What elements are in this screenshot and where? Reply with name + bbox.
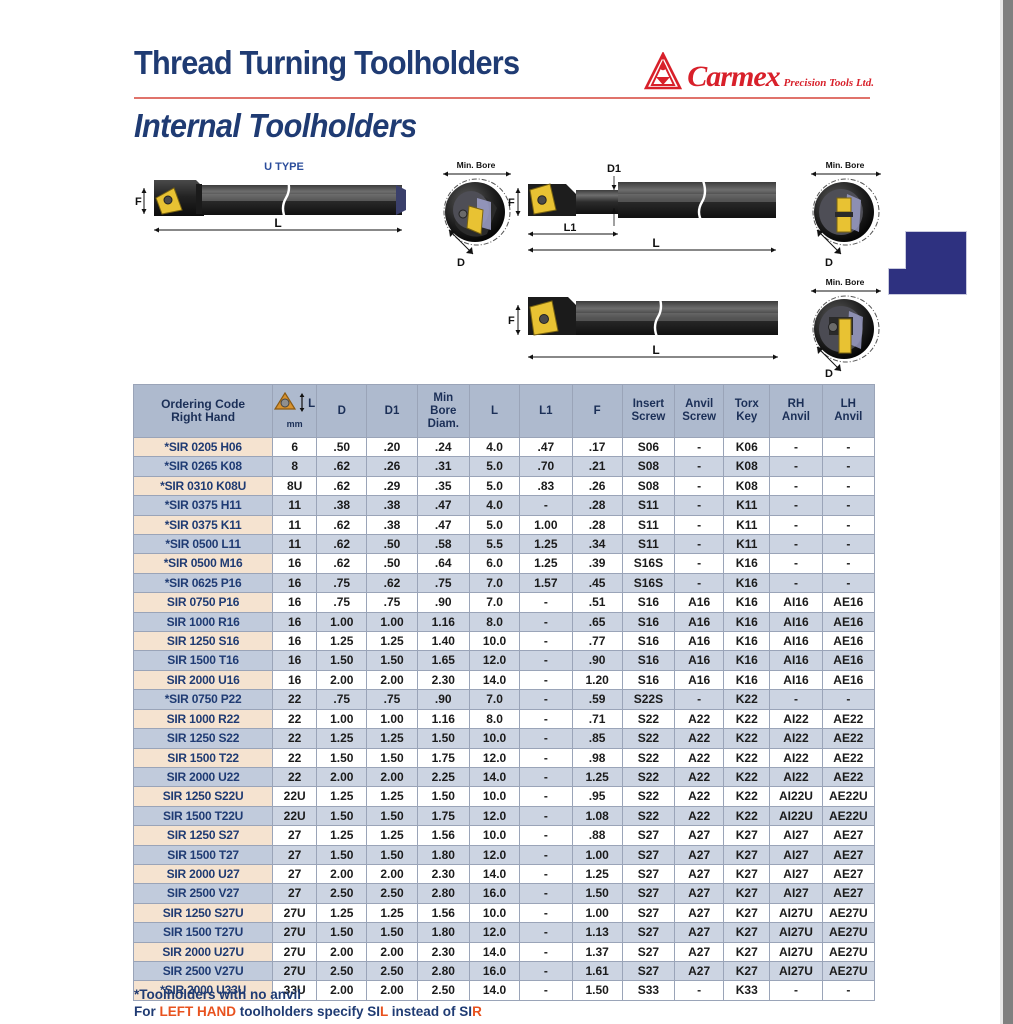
ordering-code-cell: SIR 1250 S22 (134, 729, 273, 748)
spec-cell: 5.0 (469, 457, 519, 476)
spec-cell: .45 (572, 573, 622, 592)
spec-cell: 1.25 (572, 864, 622, 883)
spec-cell: 7.0 (469, 573, 519, 592)
spec-cell: K22 (724, 690, 770, 709)
spec-cell: AI27 (770, 864, 822, 883)
svg-text:F: F (135, 196, 142, 208)
spec-cell: - (822, 515, 874, 534)
spec-cell: AI22U (770, 806, 822, 825)
spec-cell: .38 (317, 496, 367, 515)
spec-cell: .35 (417, 476, 469, 495)
spec-cell: - (520, 845, 572, 864)
spec-cell: .51 (572, 593, 622, 612)
spec-cell: 1.50 (317, 651, 367, 670)
spec-cell: 11 (273, 535, 317, 554)
spec-cell: 10.0 (469, 826, 519, 845)
spec-cell: 1.50 (572, 884, 622, 903)
spec-cell: K27 (724, 864, 770, 883)
spec-cell: 2.30 (417, 670, 469, 689)
spec-cell: 1.80 (417, 923, 469, 942)
spec-cell: S16S (622, 554, 674, 573)
spec-cell: K22 (724, 787, 770, 806)
spec-cell: K22 (724, 748, 770, 767)
spec-cell: 22U (273, 787, 317, 806)
spec-cell: 27 (273, 845, 317, 864)
spec-cell: K22 (724, 729, 770, 748)
table-row: SIR 2000 U27U27U2.002.002.3014.0-1.37S27… (134, 942, 875, 961)
spec-cell: 2.00 (317, 767, 367, 786)
spec-cell: 2.00 (367, 864, 417, 883)
table-row: *SIR 0500 M1616.62.50.646.01.25.39S16S-K… (134, 554, 875, 573)
svg-text:D: D (825, 368, 833, 378)
spec-cell: 1.40 (417, 632, 469, 651)
spec-cell: - (675, 457, 724, 476)
svg-text:D1: D1 (607, 163, 621, 175)
spec-cell: 14.0 (469, 864, 519, 883)
table-row: SIR 2500 V27U27U2.502.502.8016.0-1.61S27… (134, 961, 875, 980)
spec-cell: 2.80 (417, 884, 469, 903)
spec-cell: - (520, 496, 572, 515)
spec-cell: - (520, 632, 572, 651)
spec-cell: A16 (675, 593, 724, 612)
spec-cell: 1.50 (417, 729, 469, 748)
spec-cell: AE22U (822, 806, 874, 825)
spec-cell: 27 (273, 864, 317, 883)
spec-cell: AE27 (822, 826, 874, 845)
spec-cell: .90 (417, 690, 469, 709)
svg-text:L: L (274, 216, 281, 230)
spec-cell: AE22 (822, 729, 874, 748)
spec-cell: 27U (273, 903, 317, 922)
spec-cell: K16 (724, 632, 770, 651)
col-header-d1: D1 (367, 385, 417, 438)
ordering-code-cell: *SIR 0265 K08 (134, 457, 273, 476)
spec-cell: 12.0 (469, 806, 519, 825)
spec-cell: 22 (273, 729, 317, 748)
spec-cell: K16 (724, 554, 770, 573)
spec-cell: S22 (622, 767, 674, 786)
spec-cell: 4.0 (469, 496, 519, 515)
spec-cell: K27 (724, 923, 770, 942)
spec-cell: AE22U (822, 787, 874, 806)
spec-cell: S16 (622, 632, 674, 651)
page-subtitle: Internal Toolholders (134, 109, 822, 142)
spec-cell: 7.0 (469, 593, 519, 612)
insert-unit-label: mm (287, 418, 303, 431)
spec-cell: S27 (622, 884, 674, 903)
u-type-side-view-diagram: U TYPE F L (134, 158, 424, 268)
spec-cell: .24 (417, 438, 469, 457)
ordering-code-cell: SIR 2500 V27U (134, 961, 273, 980)
spec-cell: 2.00 (317, 864, 367, 883)
ordering-code-cell: SIR 1000 R22 (134, 709, 273, 728)
spec-cell: A16 (675, 670, 724, 689)
spec-cell: - (520, 787, 572, 806)
ordering-code-cell: SIR 2500 V27 (134, 884, 273, 903)
spec-cell: 10.0 (469, 787, 519, 806)
brand-tagline: Precision Tools Ltd. (784, 78, 874, 89)
spec-cell: S22 (622, 806, 674, 825)
spec-cell: 22 (273, 690, 317, 709)
spec-cell: 1.25 (317, 826, 367, 845)
spec-cell: AE27 (822, 884, 874, 903)
col-header-insert-size: L mm (273, 385, 317, 438)
spec-cell: 27 (273, 884, 317, 903)
ordering-code-cell: SIR 1500 T16 (134, 651, 273, 670)
spec-cell: S11 (622, 496, 674, 515)
spec-cell: 1.16 (417, 709, 469, 728)
spec-cell: 2.30 (417, 864, 469, 883)
spec-cell: 1.00 (367, 709, 417, 728)
spec-cell: 1.25 (317, 903, 367, 922)
spec-cell: AE16 (822, 651, 874, 670)
spec-cell: 1.50 (367, 923, 417, 942)
svg-text:L: L (652, 236, 659, 250)
toolholder-specs-table: Ordering Code Right Hand (133, 384, 875, 1001)
spec-cell: AI16 (770, 651, 822, 670)
col-header-lh-anvil: LH Anvil (822, 385, 874, 438)
spec-cell: - (675, 690, 724, 709)
insert-length-arrow-icon (298, 392, 306, 417)
spec-cell: 1.25 (367, 632, 417, 651)
spec-cell: .62 (317, 554, 367, 573)
spec-cell: AE22 (822, 767, 874, 786)
spec-cell: S16 (622, 593, 674, 612)
ordering-code-cell: *SIR 0310 K08U (134, 476, 273, 495)
spec-cell: 14.0 (469, 767, 519, 786)
spec-cell: K27 (724, 845, 770, 864)
ordering-code-cell: *SIR 0500 L11 (134, 535, 273, 554)
spec-cell: 1.25 (520, 535, 572, 554)
spec-cell: .50 (367, 554, 417, 573)
ordering-code-cell: *SIR 0500 M16 (134, 554, 273, 573)
spec-cell: K22 (724, 709, 770, 728)
spec-cell: 1.25 (317, 632, 367, 651)
ordering-code-cell: SIR 1500 T22 (134, 748, 273, 767)
table-row: SIR 1250 S22U22U1.251.251.5010.0-.95S22A… (134, 787, 875, 806)
spec-cell: A27 (675, 942, 724, 961)
spec-cell: 2.50 (317, 884, 367, 903)
spec-cell: - (520, 806, 572, 825)
sir-letter: R (472, 1004, 482, 1019)
spec-cell: 27U (273, 942, 317, 961)
col-header-d: D (317, 385, 367, 438)
spec-cell: - (520, 903, 572, 922)
spec-cell: 16 (273, 651, 317, 670)
spec-cell: .26 (367, 457, 417, 476)
spec-cell: A22 (675, 806, 724, 825)
spec-cell: .47 (520, 438, 572, 457)
spec-cell: 16.0 (469, 884, 519, 903)
spec-cell: - (675, 496, 724, 515)
svg-text:L1: L1 (564, 222, 577, 234)
spec-cell: - (822, 457, 874, 476)
spec-cell: A16 (675, 632, 724, 651)
standard-bore-section-diagram: Min. Bore D (789, 158, 894, 268)
spec-cell: - (675, 554, 724, 573)
spec-cell: - (770, 981, 822, 1000)
spec-cell: 1.65 (417, 651, 469, 670)
spec-cell: 10.0 (469, 632, 519, 651)
spec-cell: .29 (367, 476, 417, 495)
spec-cell: .34 (572, 535, 622, 554)
spec-cell: K16 (724, 573, 770, 592)
footnote-no-anvil: *Toolholders with no anvil (134, 986, 482, 1003)
spec-cell: 1.00 (572, 845, 622, 864)
spec-cell: 1.25 (367, 787, 417, 806)
spec-cell: A27 (675, 923, 724, 942)
spec-cell: AE16 (822, 670, 874, 689)
spec-cell: 16 (273, 573, 317, 592)
spec-cell: .62 (367, 573, 417, 592)
spec-cell: .95 (572, 787, 622, 806)
spec-cell: AE22 (822, 709, 874, 728)
spec-cell: .75 (367, 690, 417, 709)
spec-cell: A27 (675, 884, 724, 903)
spec-cell: S22S (622, 690, 674, 709)
spec-cell: K16 (724, 670, 770, 689)
table-row: SIR 1250 S27U27U1.251.251.5610.0-1.00S27… (134, 903, 875, 922)
insert-length-label: L (308, 398, 315, 411)
spec-cell: - (520, 942, 572, 961)
spec-cell: S22 (622, 748, 674, 767)
spec-cell: .38 (367, 515, 417, 534)
spec-cell: 2.50 (367, 961, 417, 980)
svg-text:Min. Bore: Min. Bore (826, 160, 865, 170)
ordering-code-cell: SIR 2000 U27 (134, 864, 273, 883)
spec-cell: A27 (675, 961, 724, 980)
spec-cell: 1.20 (572, 670, 622, 689)
spec-cell: .28 (572, 496, 622, 515)
page-header: Thread Turning Toolholders Carmex Precis… (134, 46, 874, 142)
table-row: SIR 1500 T27271.501.501.8012.0-1.00S27A2… (134, 845, 875, 864)
spec-cell: AE22 (822, 748, 874, 767)
table-row: SIR 1000 R16161.001.001.168.0-.65S16A16K… (134, 612, 875, 631)
spec-cell: 8.0 (469, 612, 519, 631)
table-row: SIR 1500 T22221.501.501.7512.0-.98S22A22… (134, 748, 875, 767)
footnotes: *Toolholders with no anvil For LEFT HAND… (134, 986, 482, 1020)
spec-cell: .58 (417, 535, 469, 554)
table-row: SIR 1500 T16161.501.501.6512.0-.90S16A16… (134, 651, 875, 670)
spec-cell: S08 (622, 476, 674, 495)
spec-cell: 10.0 (469, 729, 519, 748)
spec-cell: .90 (417, 593, 469, 612)
spec-cell: .26 (572, 476, 622, 495)
spec-cell: 12.0 (469, 845, 519, 864)
spec-cell: A16 (675, 651, 724, 670)
spec-cell: AI16 (770, 632, 822, 651)
spec-cell: - (520, 651, 572, 670)
spec-cell: K11 (724, 535, 770, 554)
spec-cell: K16 (724, 651, 770, 670)
standard-side-view-diagram: D1 F L1 L (506, 158, 796, 268)
spec-cell: S27 (622, 961, 674, 980)
spec-cell: 11 (273, 496, 317, 515)
spec-cell: S22 (622, 729, 674, 748)
spec-cell: S27 (622, 864, 674, 883)
spec-cell: .17 (572, 438, 622, 457)
spec-cell: A22 (675, 787, 724, 806)
spec-cell: - (770, 496, 822, 515)
spec-cell: AI16 (770, 670, 822, 689)
spec-cell: 1.50 (572, 981, 622, 1000)
svg-text:Min. Bore: Min. Bore (457, 160, 496, 170)
spec-cell: 1.50 (367, 845, 417, 864)
spec-cell: S33 (622, 981, 674, 1000)
spec-cell: AE27U (822, 923, 874, 942)
spec-cell: 4.0 (469, 438, 519, 457)
spec-cell: 27U (273, 961, 317, 980)
table-row: *SIR 0310 K08U8U.62.29.355.0.83.26S08-K0… (134, 476, 875, 495)
spec-cell: K27 (724, 942, 770, 961)
scrollbar-strip[interactable] (1003, 0, 1013, 1024)
left-hand-emphasis: LEFT HAND (160, 1004, 237, 1019)
spec-cell: .64 (417, 554, 469, 573)
spec-cell: 1.25 (367, 826, 417, 845)
spec-cell: 2.50 (317, 961, 367, 980)
table-row: *SIR 0500 L1111.62.50.585.51.25.34S11-K1… (134, 535, 875, 554)
table-row: *SIR 0265 K088.62.26.315.0.70.21S08-K08-… (134, 457, 875, 476)
spec-cell: .98 (572, 748, 622, 767)
spec-cell: K11 (724, 515, 770, 534)
spec-cell: 16 (273, 593, 317, 612)
spec-cell: S08 (622, 457, 674, 476)
spec-cell: 1.50 (417, 787, 469, 806)
spec-cell: - (520, 593, 572, 612)
spec-cell: AI27 (770, 845, 822, 864)
table-header-row: Ordering Code Right Hand (134, 385, 875, 438)
spec-cell: 6 (273, 438, 317, 457)
ordering-code-cell: *SIR 0625 P16 (134, 573, 273, 592)
spec-cell: 1.25 (367, 903, 417, 922)
spec-cell: .62 (317, 457, 367, 476)
table-row: SIR 1500 T27U27U1.501.501.8012.0-1.13S27… (134, 923, 875, 942)
spec-cell: 1.50 (367, 806, 417, 825)
spec-cell: .47 (417, 515, 469, 534)
spec-cell: 27U (273, 923, 317, 942)
spec-cell: - (770, 515, 822, 534)
spec-cell: A22 (675, 767, 724, 786)
col-header-min-bore-diam: Min Bore Diam. (417, 385, 469, 438)
spec-cell: AI22 (770, 709, 822, 728)
table-row: SIR 1250 S27271.251.251.5610.0-.88S27A27… (134, 826, 875, 845)
spec-cell: .71 (572, 709, 622, 728)
spec-cell: 27 (273, 826, 317, 845)
spec-cell: - (770, 535, 822, 554)
spec-cell: A16 (675, 612, 724, 631)
spec-cell: A22 (675, 729, 724, 748)
spec-cell: - (770, 476, 822, 495)
spec-cell: S27 (622, 826, 674, 845)
col-header-f: F (572, 385, 622, 438)
col-header-ordering-code: Ordering Code Right Hand (134, 385, 273, 438)
carmex-logo-icon (643, 52, 683, 92)
spec-cell: .62 (317, 535, 367, 554)
footnote-left-hand: For LEFT HAND toolholders specify SIL in… (134, 1003, 482, 1020)
spec-cell: A27 (675, 864, 724, 883)
spec-cell: - (770, 554, 822, 573)
spec-cell: AE16 (822, 632, 874, 651)
spec-cell: 1.56 (417, 903, 469, 922)
ordering-code-cell: *SIR 0375 K11 (134, 515, 273, 534)
spec-cell: 10.0 (469, 903, 519, 922)
sil-letter: L (380, 1004, 388, 1019)
spec-cell: 1.25 (367, 729, 417, 748)
col-header-l1: L1 (520, 385, 572, 438)
spec-cell: - (675, 476, 724, 495)
spec-cell: 16.0 (469, 961, 519, 980)
table-body: *SIR 0205 H066.50.20.244.0.47.17S06-K06-… (134, 438, 875, 1001)
table-row: SIR 2500 V27272.502.502.8016.0-1.50S27A2… (134, 884, 875, 903)
spec-cell: K33 (724, 981, 770, 1000)
spec-cell: S11 (622, 535, 674, 554)
spec-cell: - (520, 690, 572, 709)
spec-cell: 1.25 (572, 767, 622, 786)
table-row: *SIR 0205 H066.50.20.244.0.47.17S06-K06-… (134, 438, 875, 457)
spec-cell: K08 (724, 476, 770, 495)
spec-cell: 1.50 (317, 845, 367, 864)
spec-cell: A27 (675, 845, 724, 864)
spec-cell: AI16 (770, 593, 822, 612)
spec-cell: 2.25 (417, 767, 469, 786)
spec-cell: 1.80 (417, 845, 469, 864)
spec-cell: 5.0 (469, 515, 519, 534)
spec-cell: 1.75 (417, 806, 469, 825)
spec-cell: S16 (622, 612, 674, 631)
svg-text:Min. Bore: Min. Bore (826, 277, 865, 287)
spec-cell: - (675, 573, 724, 592)
table-row: SIR 1500 T22U22U1.501.501.7512.0-1.08S22… (134, 806, 875, 825)
spec-cell: 2.00 (367, 942, 417, 961)
svg-text:D: D (825, 257, 833, 268)
spec-cell: K27 (724, 961, 770, 980)
brand-name: Carmex (687, 62, 779, 92)
spec-cell: .70 (520, 457, 572, 476)
spec-cell: .75 (367, 593, 417, 612)
svg-text:F: F (508, 315, 515, 327)
col-header-insert-screw: Insert Screw (622, 385, 674, 438)
ordering-code-cell: SIR 0750 P16 (134, 593, 273, 612)
spec-cell: - (822, 554, 874, 573)
ordering-code-cell: SIR 2000 U27U (134, 942, 273, 961)
spec-cell: A27 (675, 903, 724, 922)
spec-cell: S16 (622, 651, 674, 670)
spec-cell: K16 (724, 612, 770, 631)
spec-cell: - (770, 438, 822, 457)
spec-cell: K27 (724, 903, 770, 922)
spec-cell: 1.75 (417, 748, 469, 767)
spec-cell: .59 (572, 690, 622, 709)
spec-cell: S27 (622, 903, 674, 922)
spec-cell: 1.50 (317, 806, 367, 825)
spec-cell: AI22U (770, 787, 822, 806)
spec-cell: 1.25 (317, 787, 367, 806)
spec-cell: AE16 (822, 612, 874, 631)
spec-cell: 8 (273, 457, 317, 476)
spec-cell: 1.25 (317, 729, 367, 748)
spec-cell: .75 (317, 690, 367, 709)
spec-cell: - (520, 729, 572, 748)
spec-cell: 7.0 (469, 690, 519, 709)
spec-cell: .75 (317, 593, 367, 612)
spec-cell: S16 (622, 670, 674, 689)
spec-cell: - (675, 515, 724, 534)
spec-cell: 12.0 (469, 923, 519, 942)
ordering-code-cell: SIR 1500 T27U (134, 923, 273, 942)
spec-cell: 1.57 (520, 573, 572, 592)
spec-cell: 2.00 (367, 670, 417, 689)
ordering-code-cell: *SIR 0205 H06 (134, 438, 273, 457)
